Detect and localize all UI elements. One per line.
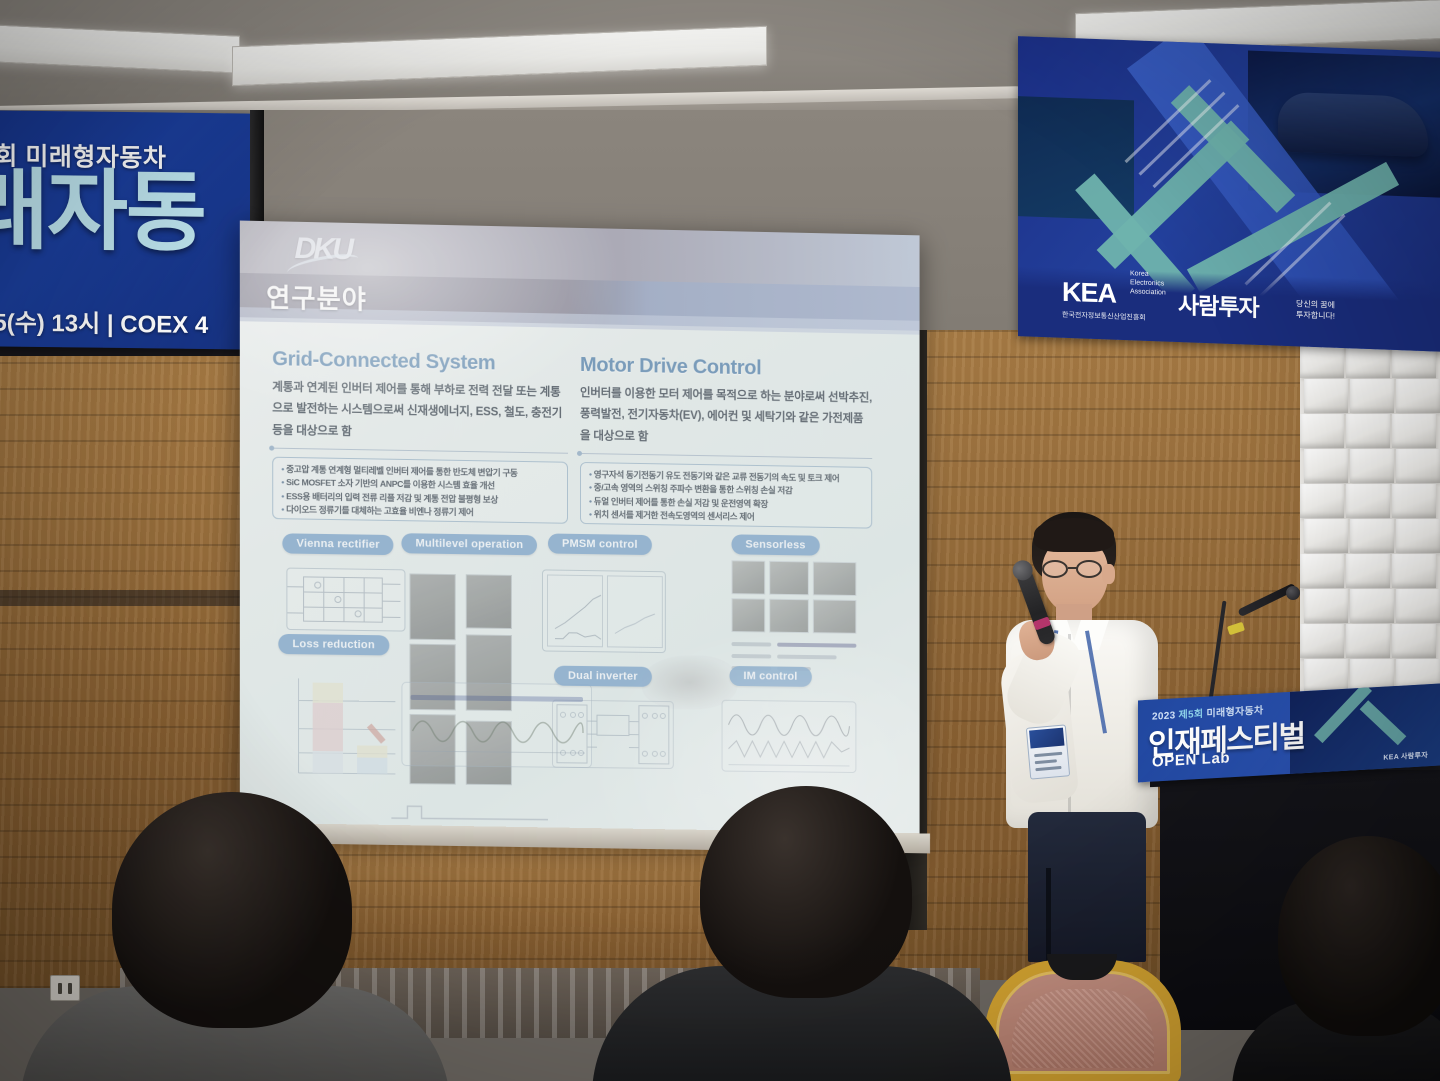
acoustic-panel-block [1350,519,1394,553]
pill-sensorless: Sensorless [731,534,819,555]
kea-logo: KEA 한국전자정보통신산업진흥회 Korea Electronics Asso… [1062,277,1146,323]
slide-body: Grid-Connected System 계통과 연계된 인버터 제어를 통해… [240,325,920,843]
presenter-fringe [1034,518,1114,552]
chair-backrest-pad [1012,989,1154,1068]
pulse-line-icon [391,804,552,824]
kea-subtitle: Korea Electronics Association [1130,269,1166,298]
name-badge [1026,724,1070,779]
acoustic-panel-block [1300,344,1344,378]
acoustic-panel-block [1346,624,1390,658]
data-bar [731,654,771,659]
slide-title: 연구분야 [266,277,367,316]
sensorless-photo-grid [731,560,858,681]
trouser-seam [1046,868,1051,962]
slide-column-grid-connected: Grid-Connected System 계통과 연계된 인버터 제어를 통해… [272,348,568,454]
lab-photo [731,560,765,594]
audience-member-head [112,792,352,1028]
banner-left-headline: 래자동 [0,168,252,256]
lab-photo [769,561,809,595]
wall-outlet [50,975,80,1001]
acoustic-panel-block [1300,484,1344,518]
saram-tuja-logo: 사람투자 당신의 꿈에 투자합니다! [1178,286,1259,323]
waveform-plot [723,701,856,772]
column-paragraph: 인버터를 이용한 모터 제어를 목적으로 하는 분야로써 선박추진, 풍력발전,… [580,383,872,452]
acoustic-panel-block [1392,414,1436,448]
bullet-box-left: 중고압 계통 연계형 멀티레벨 인버터 제어를 통한 반도체 변압기 구동 Si… [272,457,568,524]
data-bar [777,643,856,648]
pill-im-control: IM control [730,666,812,687]
hardware-photo [466,574,512,629]
acoustic-panel-block [1300,554,1344,588]
stacked-bar-chart [276,672,399,786]
projection-screen: DKU 연구분야 Grid-Connected System 계통과 연계된 인… [240,221,920,844]
im-control-waveform [722,700,857,773]
data-bar [777,655,836,660]
audience-member-head [1278,836,1440,1036]
data-bar [731,642,771,647]
acoustic-panel-block [1350,589,1394,623]
acoustic-panel-block [1300,414,1344,448]
badge-text-line [1034,752,1062,757]
banquet-chair [985,960,1181,1081]
column-heading: Grid-Connected System [272,348,568,377]
banner-left-datetime: 25(수) 13시 | COEX 4 [0,302,252,341]
acoustic-panel-block [1396,519,1440,553]
podium-sign: 2023 제5회 미래형자동차 인재페스티벌 OPEN Lab KEA 사람투자 [1138,684,1440,783]
column-rule [580,453,872,459]
acoustic-panel-block [1304,589,1348,623]
acoustic-panel-block [1392,624,1436,658]
plot-traces [545,572,665,654]
slide-column-motor-drive: Motor Drive Control 인버터를 이용한 모터 제어를 목적으로… [580,354,872,459]
right-event-banner: KEA 한국전자정보통신산업진흥회 Korea Electronics Asso… [1018,36,1440,352]
vienna-rectifier-diagram [286,568,405,632]
acoustic-panel-block [1346,484,1390,518]
acoustic-panel-block [1346,554,1390,588]
lab-photo [731,598,765,632]
switching-waveform-panel [401,682,592,768]
hardware-photo [409,573,455,640]
lab-photo [769,599,809,633]
acoustic-panel-block [1396,379,1440,413]
glasses-lens [1076,560,1102,578]
acoustic-panel-block [1346,414,1390,448]
pill-loss-reduction: Loss reduction [278,634,389,656]
loss-reduction-chart [276,672,399,786]
audience-member-head [700,786,912,998]
saram-tagline: 당신의 꿈에 투자합니다! [1296,300,1335,322]
acoustic-panel-block [1396,589,1440,623]
pill-pmsm-control: PMSM control [548,533,652,555]
pill-vienna-rectifier: Vienna rectifier [282,533,394,555]
acoustic-panel-block [1304,519,1348,553]
pmsm-plot-panel [542,569,666,653]
bullet-box-right: 영구자석 동기전동기 유도 전동기와 같은 교류 전동기의 속도 및 토크 제어… [580,462,872,529]
left-event-banner: 5회 미래형자동차 래자동 25(수) 13시 | COEX 4 [0,110,252,349]
mic-capsule [1286,586,1300,600]
conference-room-photo: 5회 미래형자동차 래자동 25(수) 13시 | COEX 4 KEA 한국전… [0,0,1440,1081]
saram-logo-text: 사람투자 [1178,286,1259,323]
acoustic-panel-block [1350,449,1394,483]
acoustic-panel-block [1350,379,1394,413]
glasses-icon [1042,560,1108,578]
column-rule [272,447,568,453]
column-heading: Motor Drive Control [580,354,872,383]
acoustic-panel-block [1392,554,1436,588]
wall-black-band [0,590,246,606]
podium-sign-subtitle: OPEN Lab [1152,749,1230,770]
acoustic-panel-block [1304,379,1348,413]
badge-text-line [1035,759,1057,764]
badge-header [1029,728,1064,749]
acoustic-panel-block [1304,449,1348,483]
microphone-color-band [1033,616,1051,630]
column-paragraph: 계통과 연계된 인버터 제어를 통해 부하로 전력 전달 또는 계통으로 발전하… [272,377,568,446]
glasses-lens [1042,560,1068,578]
presentation-slide: DKU 연구분야 Grid-Connected System 계통과 연계된 인… [240,221,920,844]
acoustic-panel-block [1304,659,1348,693]
pill-multilevel-operation: Multilevel operation [401,533,537,555]
acoustic-panel-block [1396,449,1440,483]
chevron-graphic [1360,700,1407,745]
acoustic-panel-block [1300,624,1344,658]
glasses-bridge [1068,567,1078,569]
circuit-schematic [287,569,406,633]
lab-photo [813,562,857,596]
pill-dual-inverter: Dual inverter [554,666,652,687]
badge-text-line [1035,766,1061,771]
acoustic-panel-block [1392,484,1436,518]
lab-photo [813,599,857,633]
ripple-waveform [406,701,589,763]
